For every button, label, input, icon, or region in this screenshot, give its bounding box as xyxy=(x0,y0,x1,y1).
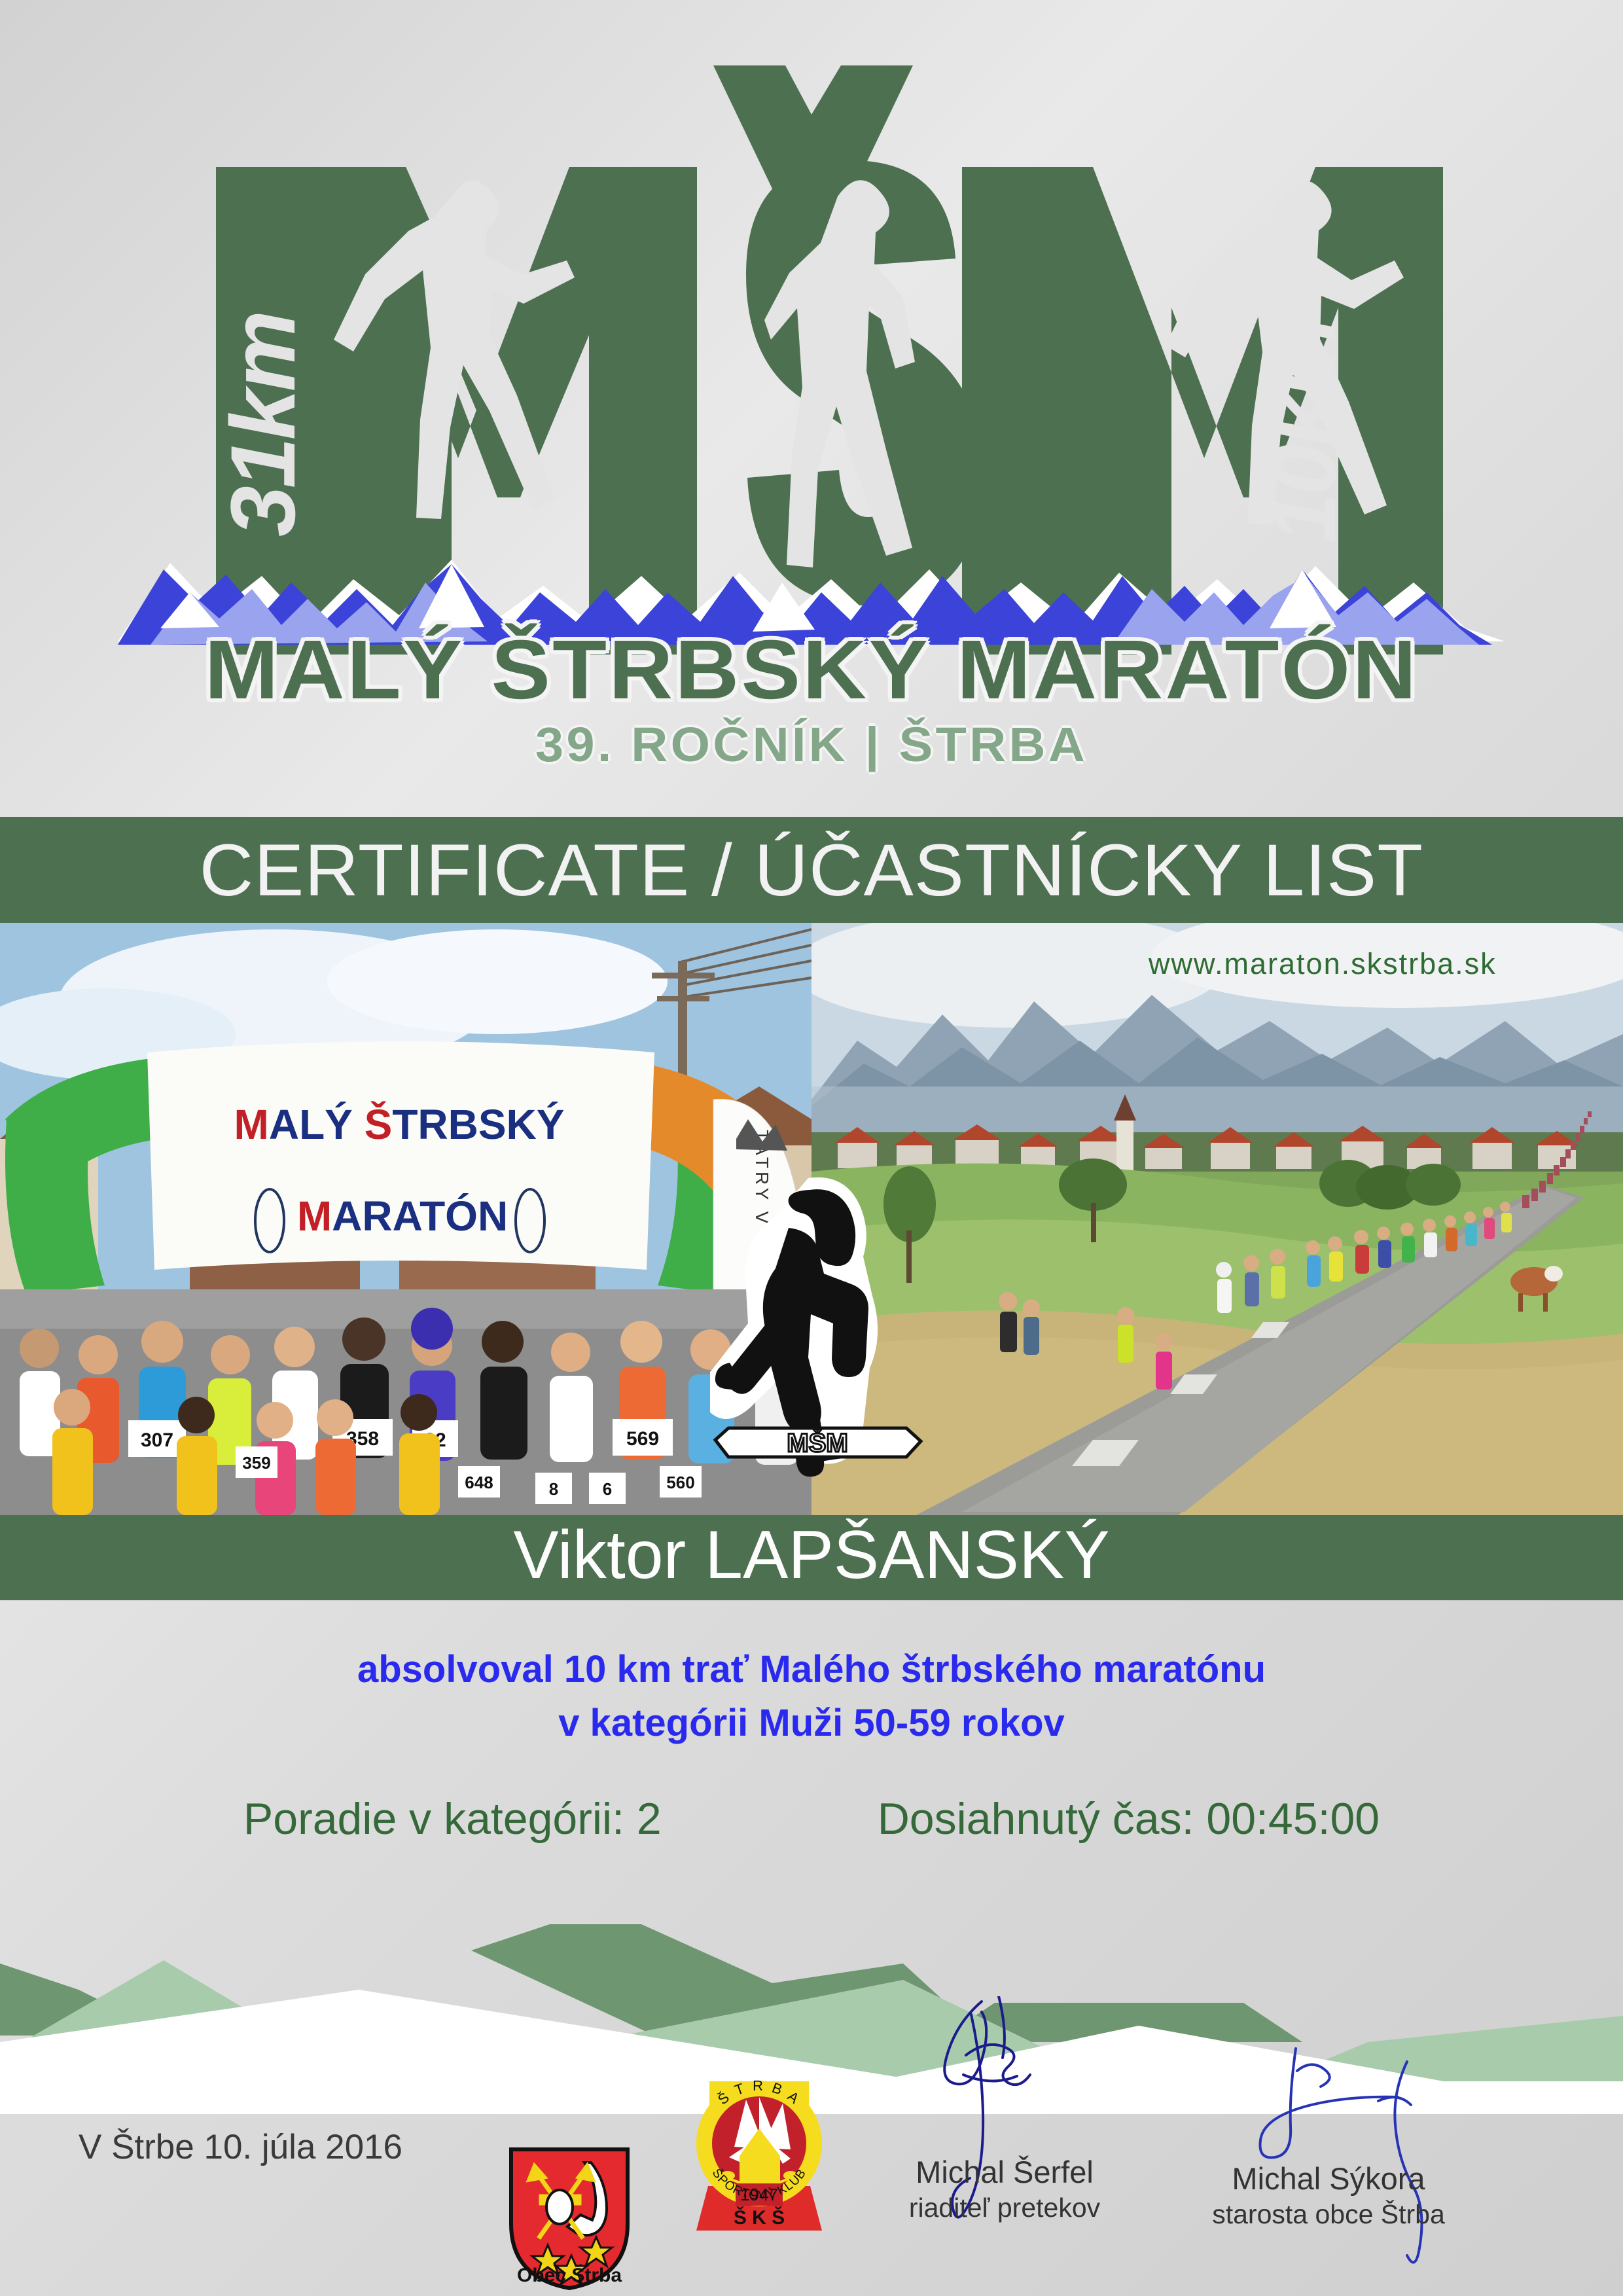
msm-runner-sticker: MŠM xyxy=(710,1172,926,1479)
event-subtitle-wrap: 39. ROČNÍK | ŠTRBA xyxy=(0,717,1623,772)
photo-start-line: MALÝ ŠTRBSKÝ MARATÓN xyxy=(0,923,811,1515)
obec-strba-label: Obec Štrba xyxy=(488,2265,651,2287)
sks-club-emblem-icon: 1947 Š T R B A ŠPORTOVÝ KLUB Š K Š xyxy=(694,2055,825,2232)
svg-text:560: 560 xyxy=(666,1473,694,1492)
event-title: MALÝ ŠTRBSKÝ MARATÓN xyxy=(205,622,1419,718)
svg-text:MARATÓN: MARATÓN xyxy=(297,1193,508,1240)
signatory-block-1: Michal Šerfel riaditeľ pretekov xyxy=(847,2153,1162,2225)
logo-distance-right: 10km xyxy=(1252,319,1355,543)
svg-text:10km: 10km xyxy=(1252,319,1355,543)
svg-text:MALÝ ŠTRBSKÝ: MALÝ ŠTRBSKÝ xyxy=(234,1100,565,1148)
certificate-title: CERTIFICATE / ÚČASTNÍCKY LIST xyxy=(200,828,1423,912)
issue-date: V Štrbe 10. júla 2016 xyxy=(79,2127,402,2167)
certificate-page: 31km 10km MALÝ ŠTRBSKÝ MARATÓN 3 xyxy=(0,0,1623,2296)
svg-text:359: 359 xyxy=(242,1453,270,1473)
signatory-block-2: Michal Sýkora starosta obce Štrba xyxy=(1171,2160,1486,2232)
description-line-1: absolvoval 10 km trať Malého štrbského m… xyxy=(0,1643,1623,1696)
svg-text:648: 648 xyxy=(465,1473,493,1492)
signatory-2-name: Michal Sýkora xyxy=(1171,2160,1486,2197)
svg-text:6: 6 xyxy=(603,1479,612,1499)
website-url[interactable]: www.maraton.skstrba.sk xyxy=(1149,947,1497,981)
logo-distance-left: 31km xyxy=(211,313,314,537)
participant-description: absolvoval 10 km trať Malého štrbského m… xyxy=(0,1643,1623,1750)
svg-text:569: 569 xyxy=(626,1428,659,1450)
start-line-illustration: MALÝ ŠTRBSKÝ MARATÓN xyxy=(0,923,811,1515)
description-line-2: v kategórii Muži 50-59 rokov xyxy=(0,1696,1623,1750)
event-title-wrap: MALÝ ŠTRBSKÝ MARATÓN xyxy=(0,622,1623,718)
certificate-band: CERTIFICATE / ÚČASTNÍCKY LIST xyxy=(0,817,1623,923)
signatory-1-role: riaditeľ pretekov xyxy=(847,2191,1162,2225)
photo-countryside xyxy=(811,923,1623,1515)
finish-time: Dosiahnutý čas: 00:45:00 xyxy=(878,1793,1380,1844)
countryside-illustration xyxy=(811,923,1623,1515)
event-logo-area: 31km 10km MALÝ ŠTRBSKÝ MARATÓN 3 xyxy=(0,0,1623,795)
club-bottom-text: Š K Š xyxy=(734,2206,785,2229)
svg-text:31km: 31km xyxy=(211,313,314,537)
msm-sticker-label: MŠM xyxy=(787,1427,847,1458)
participant-name: Viktor LAPŠANSKÝ xyxy=(0,1516,1623,1594)
event-subtitle: 39. ROČNÍK | ŠTRBA xyxy=(535,717,1088,772)
results-row: Poradie v kategórii: 2 Dosiahnutý čas: 0… xyxy=(0,1793,1623,1844)
signatory-1-name: Michal Šerfel xyxy=(847,2153,1162,2191)
category-rank: Poradie v kategórii: 2 xyxy=(243,1793,662,1844)
signatory-2-role: starosta obce Štrba xyxy=(1171,2197,1486,2232)
svg-text:8: 8 xyxy=(549,1479,558,1499)
svg-text:307: 307 xyxy=(141,1429,173,1451)
